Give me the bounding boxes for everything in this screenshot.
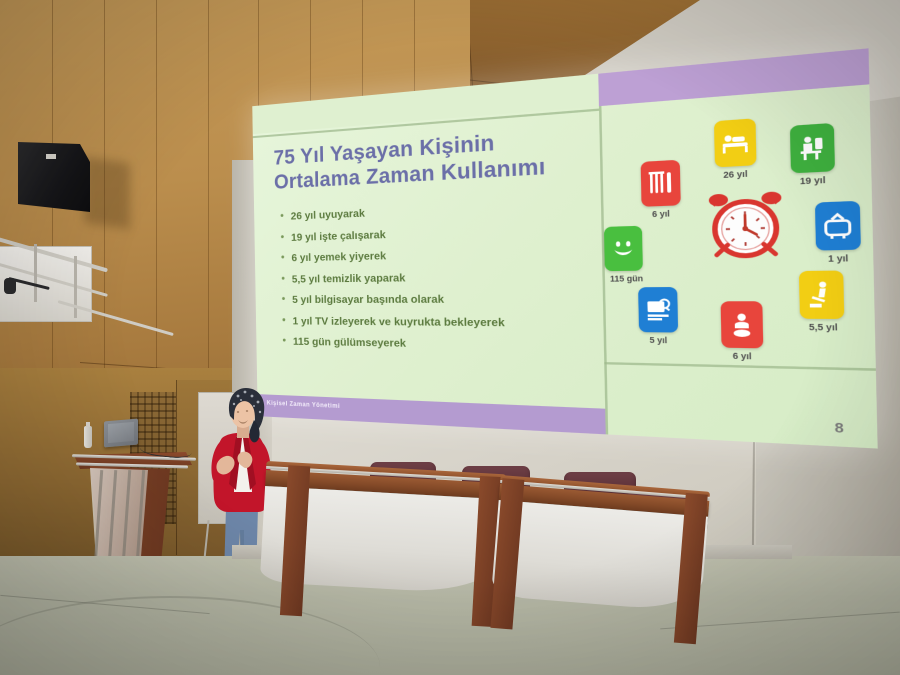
- table-modesty-panel: [491, 500, 708, 613]
- projection-screen: 75 Yıl Yaşayan Kişinin Ortalama Zaman Ku…: [252, 48, 877, 448]
- vacuum-icon: [799, 270, 844, 319]
- list-item: 1 yıl TV izleyerek ve kuyrukta bekleyere…: [282, 315, 609, 330]
- water-bottle: [84, 426, 92, 448]
- speaker-shadow: [84, 157, 130, 229]
- microphone-head-icon: [4, 278, 16, 294]
- pictogram-label: 1 yıl: [828, 255, 849, 264]
- panel-table: [258, 470, 506, 633]
- bed-icon: [714, 118, 757, 167]
- pictogram-label: 6 yıl: [733, 353, 752, 362]
- list-item: 19 yıl işte çalışarak: [281, 220, 607, 243]
- panel-table: [488, 484, 709, 650]
- cutlery-icon: [641, 160, 681, 207]
- person-icon: [721, 301, 764, 348]
- laptop[interactable]: [104, 419, 138, 448]
- list-item: 6 yıl yemek yiyerek: [281, 244, 607, 264]
- railing-post: [74, 256, 77, 318]
- smiley-icon: [604, 226, 643, 271]
- pictogram-label: 6 yıl: [652, 210, 670, 219]
- pictogram-label: 5 yıl: [649, 337, 667, 346]
- list-item: 5 yıl bilgisayar başında olarak: [282, 292, 608, 306]
- pictogram-label: 115 gün: [610, 275, 643, 284]
- pictogram-label: 5,5 yıl: [809, 324, 838, 333]
- wall-speaker-icon: [18, 142, 90, 212]
- computer-icon: [638, 287, 678, 333]
- pictogram-label: 19 yıl: [800, 177, 826, 187]
- speaker-badge: [46, 154, 56, 159]
- presentation-slide: 75 Yıl Yaşayan Kişinin Ortalama Zaman Ku…: [252, 48, 877, 448]
- tv-icon: [815, 201, 861, 251]
- pictogram-label: 26 yıl: [723, 171, 747, 181]
- desk-work-icon: [790, 123, 835, 174]
- slide-bullet-list: 26 yıl uyuyarak 19 yıl işte çalışarak 6 …: [280, 197, 609, 364]
- slide-page-number: 8: [834, 421, 844, 437]
- list-item: 115 gün gülümseyerek: [282, 335, 609, 354]
- alarm-clock-icon: [699, 181, 793, 265]
- list-item: 5,5 yıl temizlik yaparak: [281, 268, 607, 285]
- railing-post: [34, 244, 37, 302]
- pictogram-cluster: 6 yıl 26 yıl 19 yıl: [607, 90, 876, 366]
- presentation-room-photo: K A R A B Ü K 75 Yıl Yaşayan Kişinin Ort…: [0, 0, 900, 675]
